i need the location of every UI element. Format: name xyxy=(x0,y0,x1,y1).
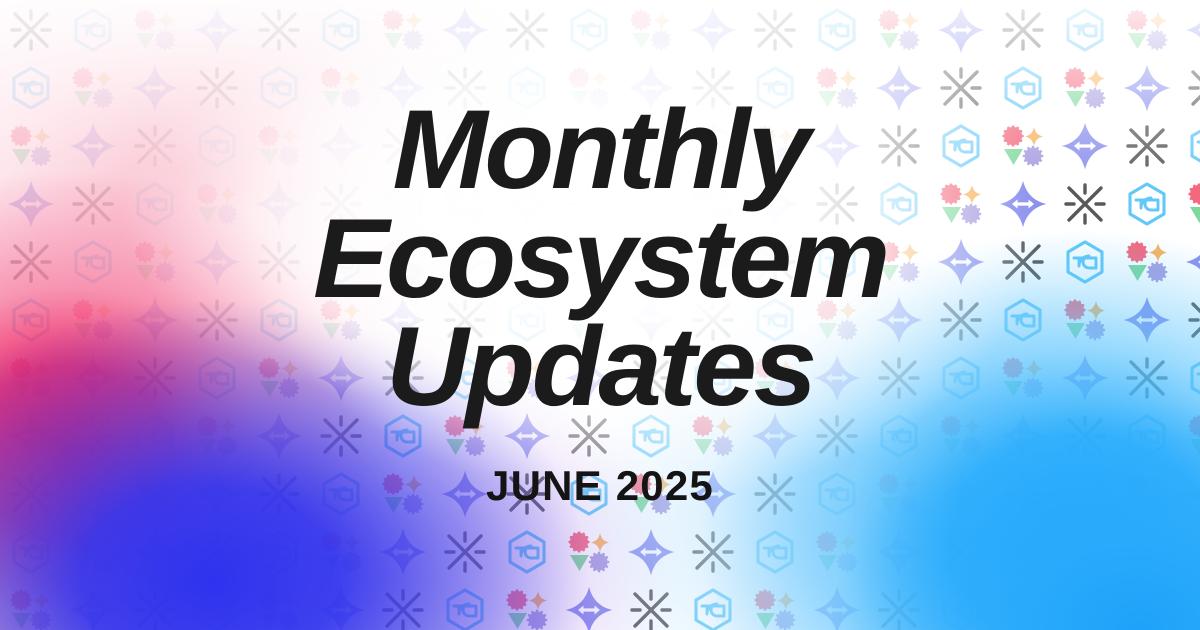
page-title: Monthly Ecosystem Updates xyxy=(212,96,987,422)
banner-text-layer: Monthly Ecosystem Updates JUNE 2025 xyxy=(0,0,1200,630)
page-subtitle: JUNE 2025 xyxy=(486,462,714,510)
page-title-line-3: Updates xyxy=(212,313,987,422)
monthly-ecosystem-updates-banner: Monthly Ecosystem Updates JUNE 2025 xyxy=(0,0,1200,630)
page-title-line-1: Monthly xyxy=(212,96,987,205)
page-title-line-2: Ecosystem xyxy=(212,205,987,314)
